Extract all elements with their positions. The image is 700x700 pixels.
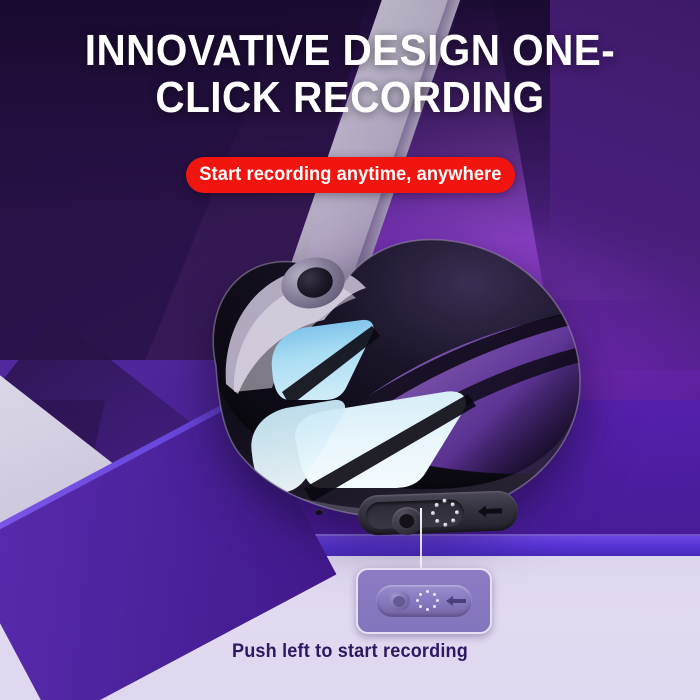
arrow-left-icon bbox=[476, 503, 505, 520]
microphone-pinhole-icon bbox=[315, 509, 323, 515]
caption-text: Push left to start recording bbox=[18, 641, 683, 663]
product-image bbox=[186, 216, 606, 536]
page-title: INNOVATIVE DESIGN ONE- CLICK RECORDING bbox=[28, 28, 672, 121]
headline-line-1: INNOVATIVE DESIGN ONE- bbox=[85, 26, 615, 75]
heart-device-body bbox=[186, 216, 606, 536]
callout-dotted-grille-icon bbox=[416, 590, 440, 612]
callout-slider-track[interactable] bbox=[376, 585, 472, 617]
callout-arrow-left-icon bbox=[444, 594, 468, 608]
record-slider-knob[interactable] bbox=[392, 507, 423, 536]
status-badge: Start recording anytime, anywhere bbox=[186, 157, 515, 193]
promo-banner: INNOVATIVE DESIGN ONE- CLICK RECORDING S… bbox=[0, 0, 700, 700]
callout-leader-line bbox=[420, 508, 422, 570]
callout-slider-knob[interactable] bbox=[388, 591, 410, 611]
camera-lens-icon bbox=[294, 264, 336, 302]
badge-label: Start recording anytime, anywhere bbox=[199, 164, 501, 186]
device-control-strip[interactable] bbox=[357, 490, 518, 536]
headline-line-2: CLICK RECORDING bbox=[155, 73, 544, 122]
slider-detail-callout bbox=[356, 568, 492, 634]
dotted-grille-icon bbox=[430, 498, 461, 527]
